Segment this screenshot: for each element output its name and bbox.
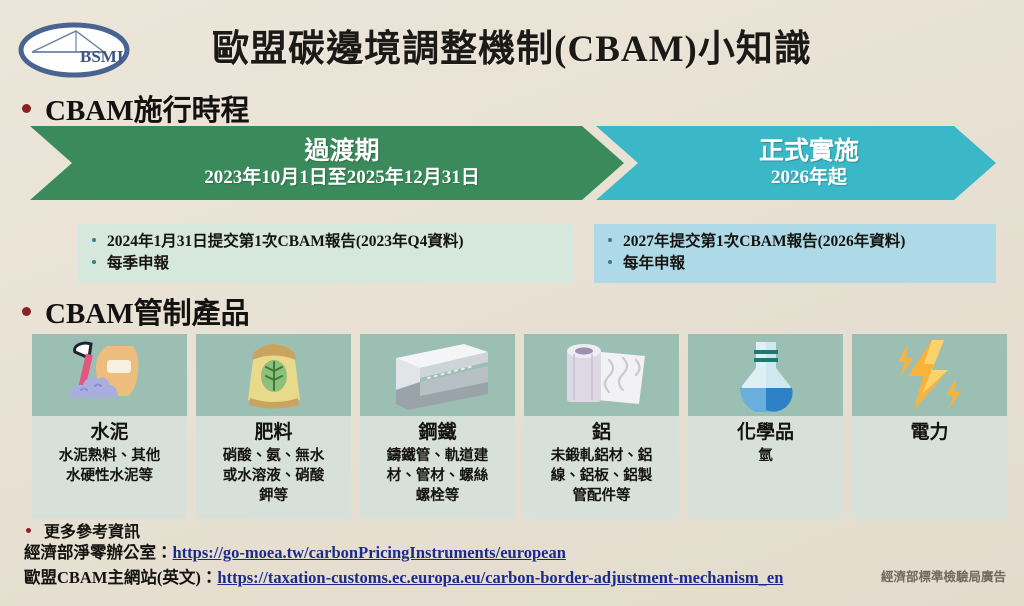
note-box-definitive: 2027年提交第1次CBAM報告(2026年資料) 每年申報	[594, 224, 996, 283]
product-card-body: 肥料 硝酸、氨、無水或水溶液、硝酸鉀等	[196, 416, 351, 519]
phase-period: 2026年起	[771, 166, 847, 189]
publisher-credit: 經濟部標準檢驗局廣告	[881, 566, 1006, 585]
infographic-page: BSMI 歐盟碳邊境調整機制(CBAM)小知識 CBAM施行時程 過渡期 202…	[0, 0, 1024, 606]
cement-bag-shovel-icon	[32, 334, 187, 416]
product-card-fertilizer: 肥料 硝酸、氨、無水或水溶液、硝酸鉀等	[196, 334, 351, 519]
list-item: 每年申報	[608, 253, 986, 275]
product-desc: 硝酸、氨、無水或水溶液、硝酸鉀等	[202, 446, 345, 506]
note-list: 2027年提交第1次CBAM報告(2026年資料) 每年申報	[608, 231, 986, 275]
product-card-list: 水泥 水泥熟料、其他水硬性水泥等 肥料 硝酸、氨、無水或水溶液、硝酸鉀等	[32, 334, 1007, 519]
product-card-electricity: 電力	[852, 334, 1007, 519]
phase-name: 過渡期	[304, 138, 379, 166]
link-label: 經濟部淨零辦公室：	[24, 543, 173, 562]
timeline-phase-transition: 過渡期 2023年10月1日至2025年12月31日	[30, 126, 624, 200]
page-title: 歐盟碳邊境調整機制(CBAM)小知識	[0, 18, 1024, 72]
product-name: 鋼鐵	[366, 420, 509, 446]
note-list: 2024年1月31日提交第1次CBAM報告(2023年Q4資料) 每季申報	[92, 231, 564, 275]
product-card-body: 電力	[852, 416, 1007, 519]
product-name: 水泥	[38, 420, 181, 446]
list-item: 2024年1月31日提交第1次CBAM報告(2023年Q4資料)	[92, 231, 564, 253]
phase-period: 2023年10月1日至2025年12月31日	[204, 166, 480, 189]
product-name: 肥料	[202, 420, 345, 446]
product-desc: 鑄鐵管、軌道建材、管材、螺絲螺栓等	[366, 446, 509, 506]
product-card-cement: 水泥 水泥熟料、其他水硬性水泥等	[32, 334, 187, 519]
reference-link-row: 經濟部淨零辦公室：https://go-moea.tw/carbonPricin…	[24, 539, 566, 563]
product-card-aluminium: 鋁 未鍛軋鋁材、鋁線、鋁板、鋁製管配件等	[524, 334, 679, 519]
link-label: 歐盟CBAM主網站(英文)：	[24, 568, 217, 587]
reference-link-row: 歐盟CBAM主網站(英文)：https://taxation-customs.e…	[24, 564, 783, 588]
bullet-dot-icon	[22, 307, 31, 316]
list-item: 每季申報	[92, 253, 564, 275]
product-desc: 氫	[694, 446, 837, 466]
product-name: 電力	[858, 420, 1001, 446]
chemical-flask-icon	[688, 334, 843, 416]
product-card-body: 鋼鐵 鑄鐵管、軌道建材、管材、螺絲螺栓等	[360, 416, 515, 519]
steel-i-beam-icon	[360, 334, 515, 416]
section-heading-products-label: CBAM管制產品	[45, 290, 250, 332]
electricity-bolt-icon	[852, 334, 1007, 416]
product-desc: 未鍛軋鋁材、鋁線、鋁板、鋁製管配件等	[530, 446, 673, 506]
reference-link-moea[interactable]: https://go-moea.tw/carbonPricingInstrume…	[173, 543, 566, 562]
section-heading-schedule: CBAM施行時程	[22, 87, 250, 129]
phase-name: 正式實施	[759, 138, 859, 166]
timeline-phase-definitive: 正式實施 2026年起	[596, 126, 996, 200]
aluminium-foil-icon	[524, 334, 679, 416]
product-card-steel: 鋼鐵 鑄鐵管、軌道建材、管材、螺絲螺栓等	[360, 334, 515, 519]
bullet-dot-icon	[26, 528, 31, 533]
product-desc: 水泥熟料、其他水硬性水泥等	[38, 446, 181, 486]
bullet-dot-icon	[22, 104, 31, 113]
section-heading-products: CBAM管制產品	[22, 290, 250, 332]
product-card-body: 化學品 氫	[688, 416, 843, 519]
section-heading-schedule-label: CBAM施行時程	[45, 87, 250, 129]
product-name: 鋁	[530, 420, 673, 446]
product-card-body: 水泥 水泥熟料、其他水硬性水泥等	[32, 416, 187, 519]
note-box-transition: 2024年1月31日提交第1次CBAM報告(2023年Q4資料) 每季申報	[78, 224, 574, 283]
product-card-chemicals: 化學品 氫	[688, 334, 843, 519]
list-item: 2027年提交第1次CBAM報告(2026年資料)	[608, 231, 986, 253]
product-name: 化學品	[694, 420, 837, 446]
timeline: 過渡期 2023年10月1日至2025年12月31日 正式實施 2026年起	[30, 126, 996, 200]
product-card-body: 鋁 未鍛軋鋁材、鋁線、鋁板、鋁製管配件等	[524, 416, 679, 519]
reference-link-eu-cbam[interactable]: https://taxation-customs.ec.europa.eu/ca…	[217, 568, 783, 587]
fertilizer-bag-icon	[196, 334, 351, 416]
